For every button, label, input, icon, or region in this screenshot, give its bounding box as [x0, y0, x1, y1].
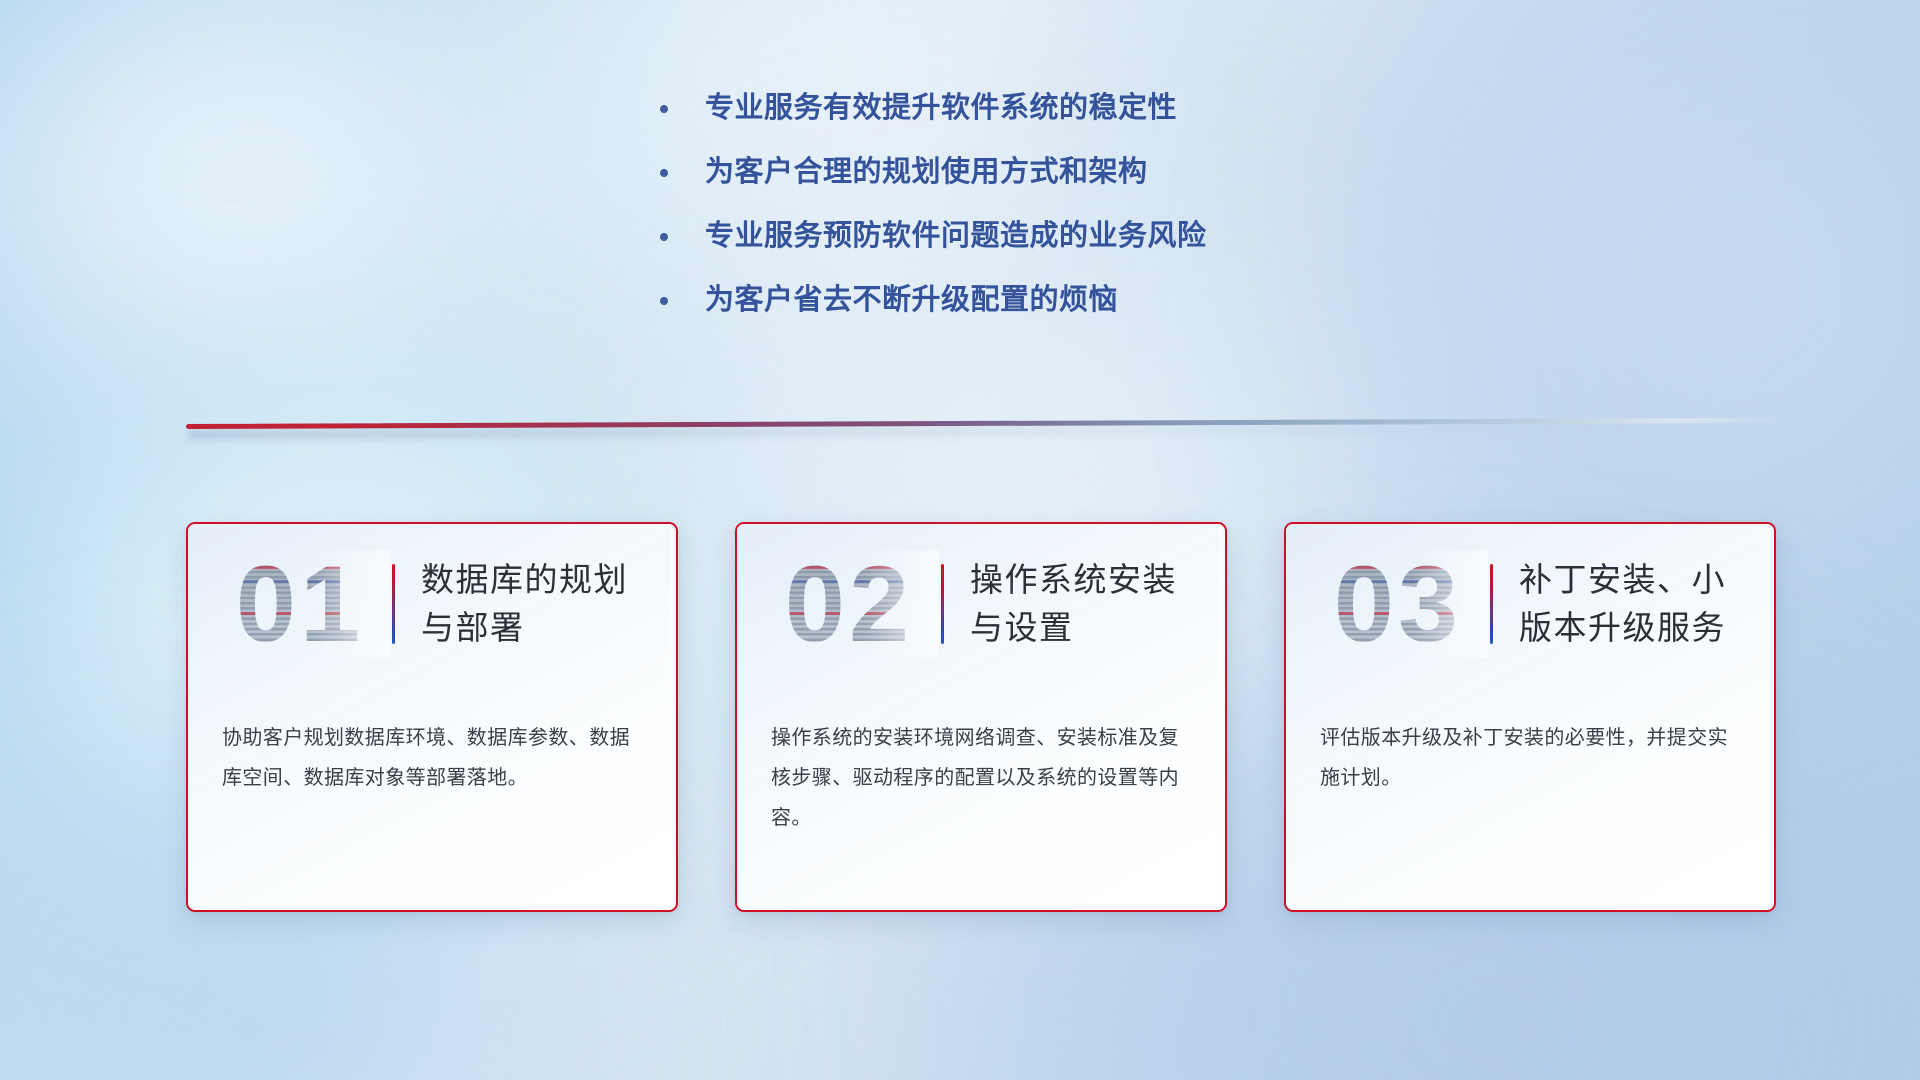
bullet-text: 专业服务有效提升软件系统的稳定性 — [705, 88, 1177, 129]
card-description: 协助客户规划数据库环境、数据库参数、数据库空间、数据库对象等部署落地。 — [222, 718, 642, 798]
card-number-watermark: 02 — [759, 550, 939, 658]
section-divider — [186, 424, 1786, 446]
card-header: 03 补丁安装、小 版本升级服务 — [1286, 524, 1774, 684]
card-body: 评估版本升级及补丁安装的必要性，并提交实施计划。 — [1286, 684, 1774, 798]
card-title-line-2: 与部署 — [421, 604, 653, 652]
bullet-point-icon — [660, 297, 668, 305]
card-title-line-1: 数据库的规划 — [421, 556, 653, 604]
card-accent-bar-icon — [1490, 564, 1493, 644]
list-item: 为客户合理的规划使用方式和架构 — [660, 152, 1480, 193]
card-title-line-2: 与设置 — [970, 604, 1202, 652]
card-description: 操作系统的安装环境网络调查、安装标准及复核步骤、驱动程序的配置以及系统的设置等内… — [771, 718, 1191, 838]
card-title-line-1: 补丁安装、小 — [1519, 556, 1751, 604]
card-number-watermark: 03 — [1308, 550, 1488, 658]
service-card[interactable]: 01 数据库的规划 与部署 协助客户规划数据库环境、数据库参数、数据库空间、数据… — [186, 522, 678, 912]
card-description: 评估版本升级及补丁安装的必要性，并提交实施计划。 — [1320, 718, 1740, 798]
service-card-grid: 01 数据库的规划 与部署 协助客户规划数据库环境、数据库参数、数据库空间、数据… — [186, 522, 1776, 912]
bullet-point-icon — [660, 233, 668, 241]
bullet-text: 为客户省去不断升级配置的烦恼 — [705, 280, 1118, 321]
card-title: 操作系统安装 与设置 — [970, 556, 1202, 652]
bullet-text: 为客户合理的规划使用方式和架构 — [705, 152, 1148, 193]
bullet-point-icon — [660, 169, 668, 177]
bullet-point-icon — [660, 105, 668, 113]
list-item: 专业服务预防软件问题造成的业务风险 — [660, 216, 1480, 257]
card-body: 协助客户规划数据库环境、数据库参数、数据库空间、数据库对象等部署落地。 — [188, 684, 676, 798]
card-header: 02 操作系统安装 与设置 — [737, 524, 1225, 684]
card-accent-bar-icon — [392, 564, 395, 644]
bullet-text: 专业服务预防软件问题造成的业务风险 — [705, 216, 1207, 257]
card-number-watermark: 01 — [210, 550, 390, 658]
list-item: 专业服务有效提升软件系统的稳定性 — [660, 88, 1480, 129]
card-header: 01 数据库的规划 与部署 — [188, 524, 676, 684]
service-card[interactable]: 02 操作系统安装 与设置 操作系统的安装环境网络调查、安装标准及复核步骤、驱动… — [735, 522, 1227, 912]
card-body: 操作系统的安装环境网络调查、安装标准及复核步骤、驱动程序的配置以及系统的设置等内… — [737, 684, 1225, 838]
card-title: 补丁安装、小 版本升级服务 — [1519, 556, 1751, 652]
card-accent-bar-icon — [941, 564, 944, 644]
card-title-line-1: 操作系统安装 — [970, 556, 1202, 604]
card-title-line-2: 版本升级服务 — [1519, 604, 1751, 652]
list-item: 为客户省去不断升级配置的烦恼 — [660, 280, 1480, 321]
card-title: 数据库的规划 与部署 — [421, 556, 653, 652]
service-card[interactable]: 03 补丁安装、小 版本升级服务 评估版本升级及补丁安装的必要性，并提交实施计划… — [1284, 522, 1776, 912]
benefits-bullet-list: 专业服务有效提升软件系统的稳定性 为客户合理的规划使用方式和架构 专业服务预防软… — [660, 88, 1480, 344]
